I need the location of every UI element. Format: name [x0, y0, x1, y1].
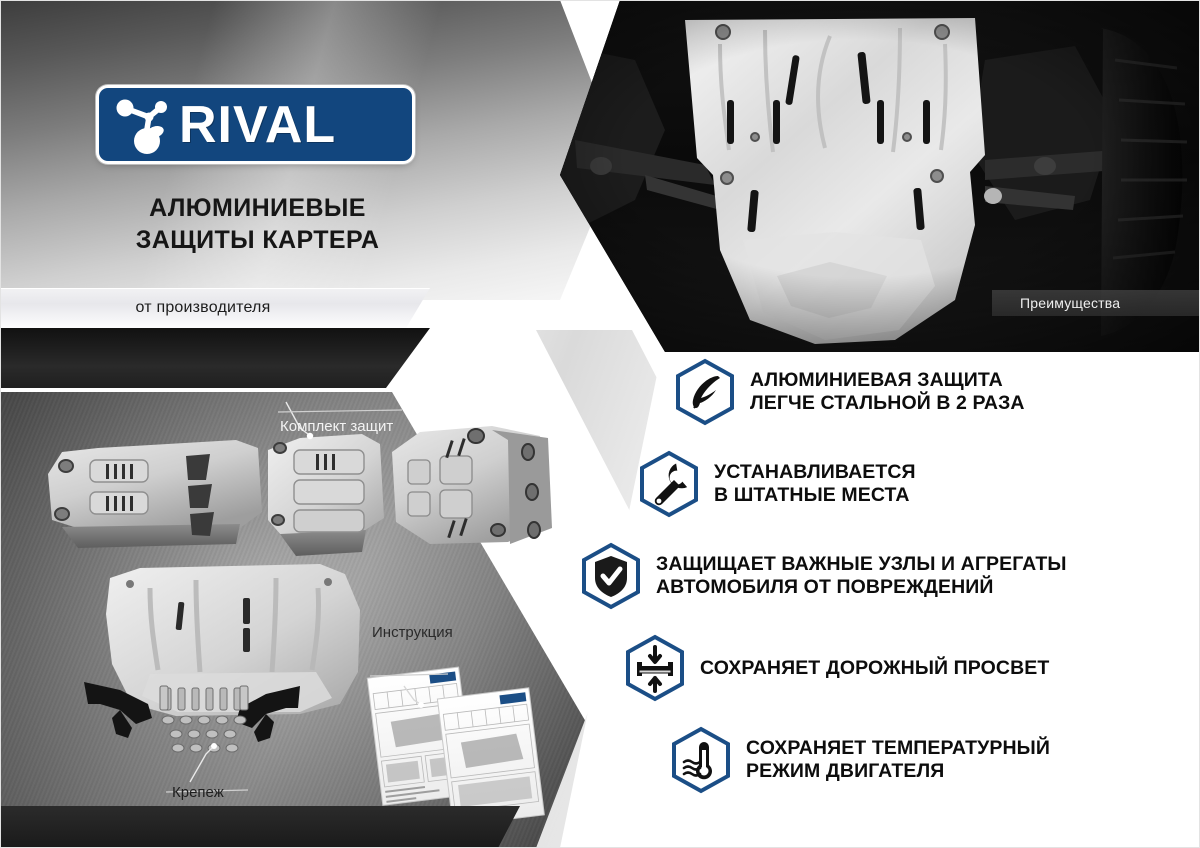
page-title-line1: АЛЮМИНИЕВЫЕ — [0, 192, 515, 224]
thermometer-icon — [670, 726, 732, 794]
feature-line-3a: ЗАЩИЩАЕТ ВАЖНЫЕ УЗЛЫ И АГРЕГАТЫ — [656, 553, 1067, 575]
feature-text-5: СОХРАНЯЕТ ТЕМПЕРАТУРНЫЙ РЕЖИМ ДВИГАТЕЛЯ — [746, 737, 1050, 783]
feature-item-5: СОХРАНЯЕТ ТЕМПЕРАТУРНЫЙ РЕЖИМ ДВИГАТЕЛЯ — [670, 726, 1200, 794]
callout-fasteners-label: Крепеж — [172, 784, 224, 801]
feature-line-3b: АВТОМОБИЛЯ ОТ ПОВРЕЖДЕНИЙ — [656, 576, 994, 598]
feature-item-1: АЛЮМИНИЕВАЯ ЗАЩИТА ЛЕГЧЕ СТАЛЬНОЙ В 2 РА… — [674, 358, 1200, 426]
shield-check-icon — [580, 542, 642, 610]
page-title: АЛЮМИНИЕВЫЕ ЗАЩИТЫ КАРТЕРА — [0, 192, 515, 256]
rival-logo: RIVAL — [99, 88, 412, 161]
logo-wordmark: RIVAL — [179, 99, 336, 151]
promo-banner: RIVAL АЛЮМИНИЕВЫЕ ЗАЩИТЫ КАРТЕРА от прои… — [0, 0, 1200, 848]
callout-instruction-label: Инструкция — [372, 624, 453, 641]
advantages-tab: Преимущества — [992, 290, 1200, 316]
feather-icon — [674, 358, 736, 426]
callout-kit-label: Комплект защит — [280, 418, 393, 435]
advantages-tab-label: Преимущества — [1020, 295, 1120, 311]
feature-text-2: УСТАНАВЛИВАЕТСЯ В ШТАТНЫЕ МЕСТА — [714, 461, 916, 507]
feature-line-5b: РЕЖИМ ДВИГАТЕЛЯ — [746, 760, 944, 782]
subtitle-text: от производителя — [0, 288, 406, 328]
feature-line-1a: АЛЮМИНИЕВАЯ ЗАЩИТА — [750, 369, 1003, 391]
wrench-icon — [638, 450, 700, 518]
page-title-line2: ЗАЩИТЫ КАРТЕРА — [0, 224, 515, 256]
feature-text-4: СОХРАНЯЕТ ДОРОЖНЫЙ ПРОСВЕТ — [700, 657, 1049, 680]
feature-text-1: АЛЮМИНИЕВАЯ ЗАЩИТА ЛЕГЧЕ СТАЛЬНОЙ В 2 РА… — [750, 369, 1025, 415]
feature-line-4a: СОХРАНЯЕТ ДОРОЖНЫЙ ПРОСВЕТ — [700, 657, 1049, 679]
feature-item-2: УСТАНАВЛИВАЕТСЯ В ШТАТНЫЕ МЕСТА — [638, 450, 1200, 518]
features-list: АЛЮМИНИЕВАЯ ЗАЩИТА ЛЕГЧЕ СТАЛЬНОЙ В 2 РА… — [612, 358, 1200, 808]
feature-item-3: ЗАЩИЩАЕТ ВАЖНЫЕ УЗЛЫ И АГРЕГАТЫ АВТОМОБИ… — [580, 542, 1200, 610]
bottom-left-wedge — [0, 806, 520, 848]
feature-item-4: СОХРАНЯЕТ ДОРОЖНЫЙ ПРОСВЕТ — [624, 634, 1200, 702]
molecule-icon — [111, 95, 177, 155]
feature-line-5a: СОХРАНЯЕТ ТЕМПЕРАТУРНЫЙ — [746, 737, 1050, 759]
ground-clearance-icon — [624, 634, 686, 702]
feature-line-2b: В ШТАТНЫЕ МЕСТА — [714, 484, 910, 506]
feature-text-3: ЗАЩИЩАЕТ ВАЖНЫЕ УЗЛЫ И АГРЕГАТЫ АВТОМОБИ… — [656, 553, 1067, 599]
feature-line-1b: ЛЕГЧЕ СТАЛЬНОЙ В 2 РАЗА — [750, 392, 1025, 414]
feature-line-2a: УСТАНАВЛИВАЕТСЯ — [714, 461, 916, 483]
